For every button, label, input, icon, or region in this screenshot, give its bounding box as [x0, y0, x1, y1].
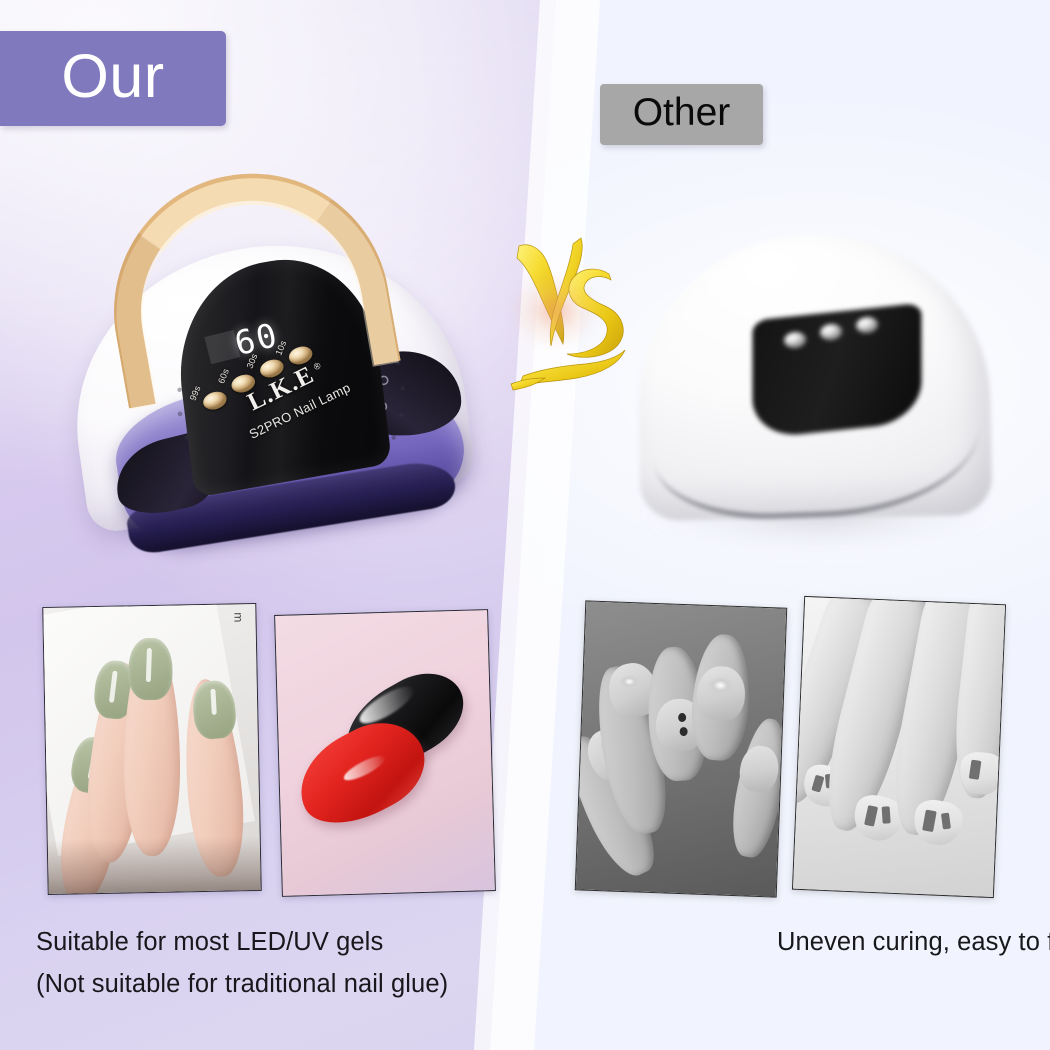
- peeling-polish-photo: [792, 596, 1006, 898]
- other-nail-lamp-image: [624, 228, 1024, 564]
- our-side-label-text: Our: [61, 46, 164, 107]
- press-on-nails-photo: [274, 609, 496, 897]
- our-nail-lamp-image: 99s 60s 30s 10s 60 L.K.E ® S2PRO Nail La…: [42, 149, 502, 591]
- damaged-nails-photo: [575, 600, 787, 897]
- nail-flaking: [619, 675, 639, 689]
- versus-badge: [493, 228, 633, 398]
- photo-vignette: [48, 836, 261, 894]
- nail-flaking: [707, 676, 734, 695]
- our-side-caption: Suitable for most LED/UV gels (Not suita…: [36, 921, 506, 1005]
- our-side-label: Our: [0, 31, 226, 126]
- other-side-caption: Uneven curing, easy to fall off: [777, 921, 1050, 963]
- peeling-fleck: [882, 806, 891, 823]
- comparison-infographic: Our Other: [0, 0, 1050, 1050]
- other-side-label: Other: [600, 84, 763, 145]
- versus-glow: [509, 272, 601, 350]
- photo-corner-mark: m: [231, 612, 245, 622]
- other-side-label-text: Other: [633, 93, 731, 132]
- sage-manicure-photo: m: [42, 603, 261, 895]
